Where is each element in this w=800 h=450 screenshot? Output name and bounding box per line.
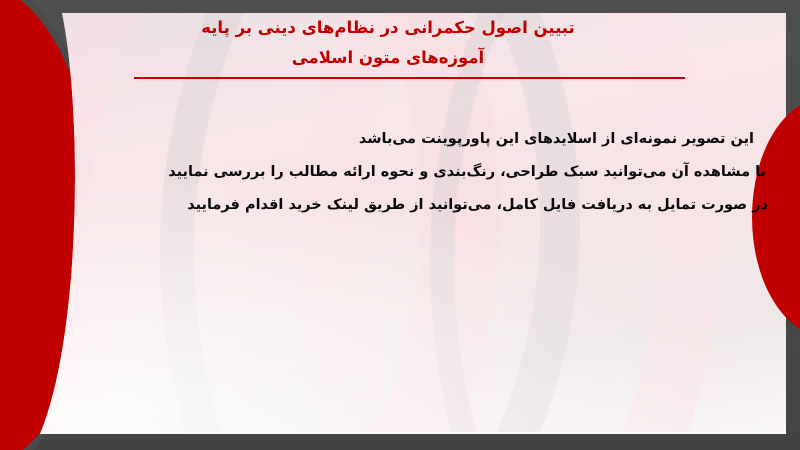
slide-canvas: تبیین اصول حکمرانی در نظام‌های دینی بر پ… <box>0 0 800 450</box>
body-text-line-3: در صورت تمایل به دریافت فایل کامل، می‌تو… <box>134 189 768 222</box>
slide-title-line-2: آموزه‌های متون اسلامی <box>90 43 686 73</box>
slide-body-text: این تصویر نمونه‌ای از اسلایدهای این پاور… <box>134 123 754 222</box>
slide-title: تبیین اصول حکمرانی در نظام‌های دینی بر پ… <box>90 13 686 73</box>
panel-bottom-highlight <box>40 432 786 434</box>
slide-title-line-1: تبیین اصول حکمرانی در نظام‌های دینی بر پ… <box>90 13 686 43</box>
body-text-line-2: با مشاهده آن می‌توانید سبک طراحی، رنگ‌بن… <box>134 156 766 189</box>
body-text-line-1: این تصویر نمونه‌ای از اسلایدهای این پاور… <box>134 123 754 156</box>
title-underline-rule <box>134 77 685 79</box>
